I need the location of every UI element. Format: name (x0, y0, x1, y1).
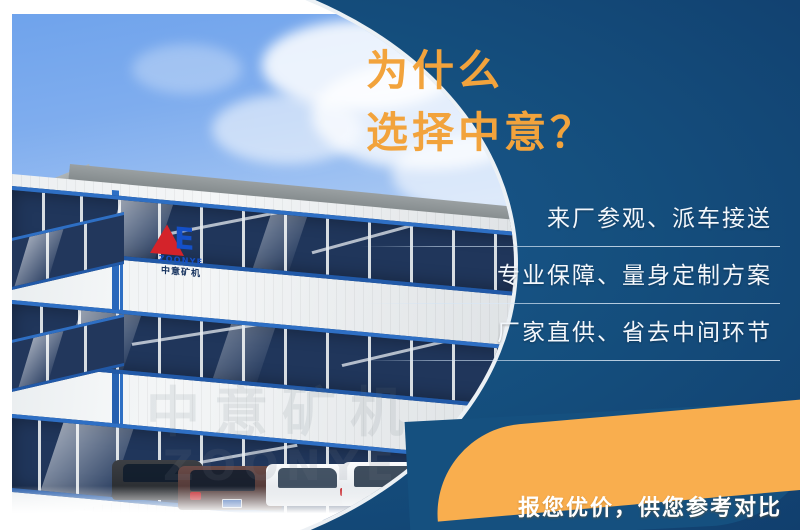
footer-banner-text: 报您优价，供您参考对比 (500, 490, 800, 522)
headline: 为什么 选择中意？ (352, 40, 772, 164)
list-item: 厂家直供、省去中间环节 (360, 310, 780, 360)
list-item: 专业保障、量身定制方案 (360, 253, 780, 303)
benefits-list: 来厂参观、派车接送 专业保障、量身定制方案 厂家直供、省去中间环节 (360, 196, 780, 367)
divider (360, 360, 780, 361)
cloud (132, 44, 242, 94)
divider (360, 303, 780, 304)
headline-line-1: 为什么 (366, 40, 772, 102)
logo-e-icon: E (174, 224, 195, 256)
building-logo: E ZOONYE 中意矿机 (148, 223, 220, 286)
headline-line-2: 选择中意？ (366, 102, 772, 164)
list-item: 来厂参观、派车接送 (360, 196, 780, 246)
promo-banner-stage: E ZOONYE 中意矿机 (0, 0, 800, 530)
cloud (212, 94, 362, 164)
divider (360, 246, 780, 247)
